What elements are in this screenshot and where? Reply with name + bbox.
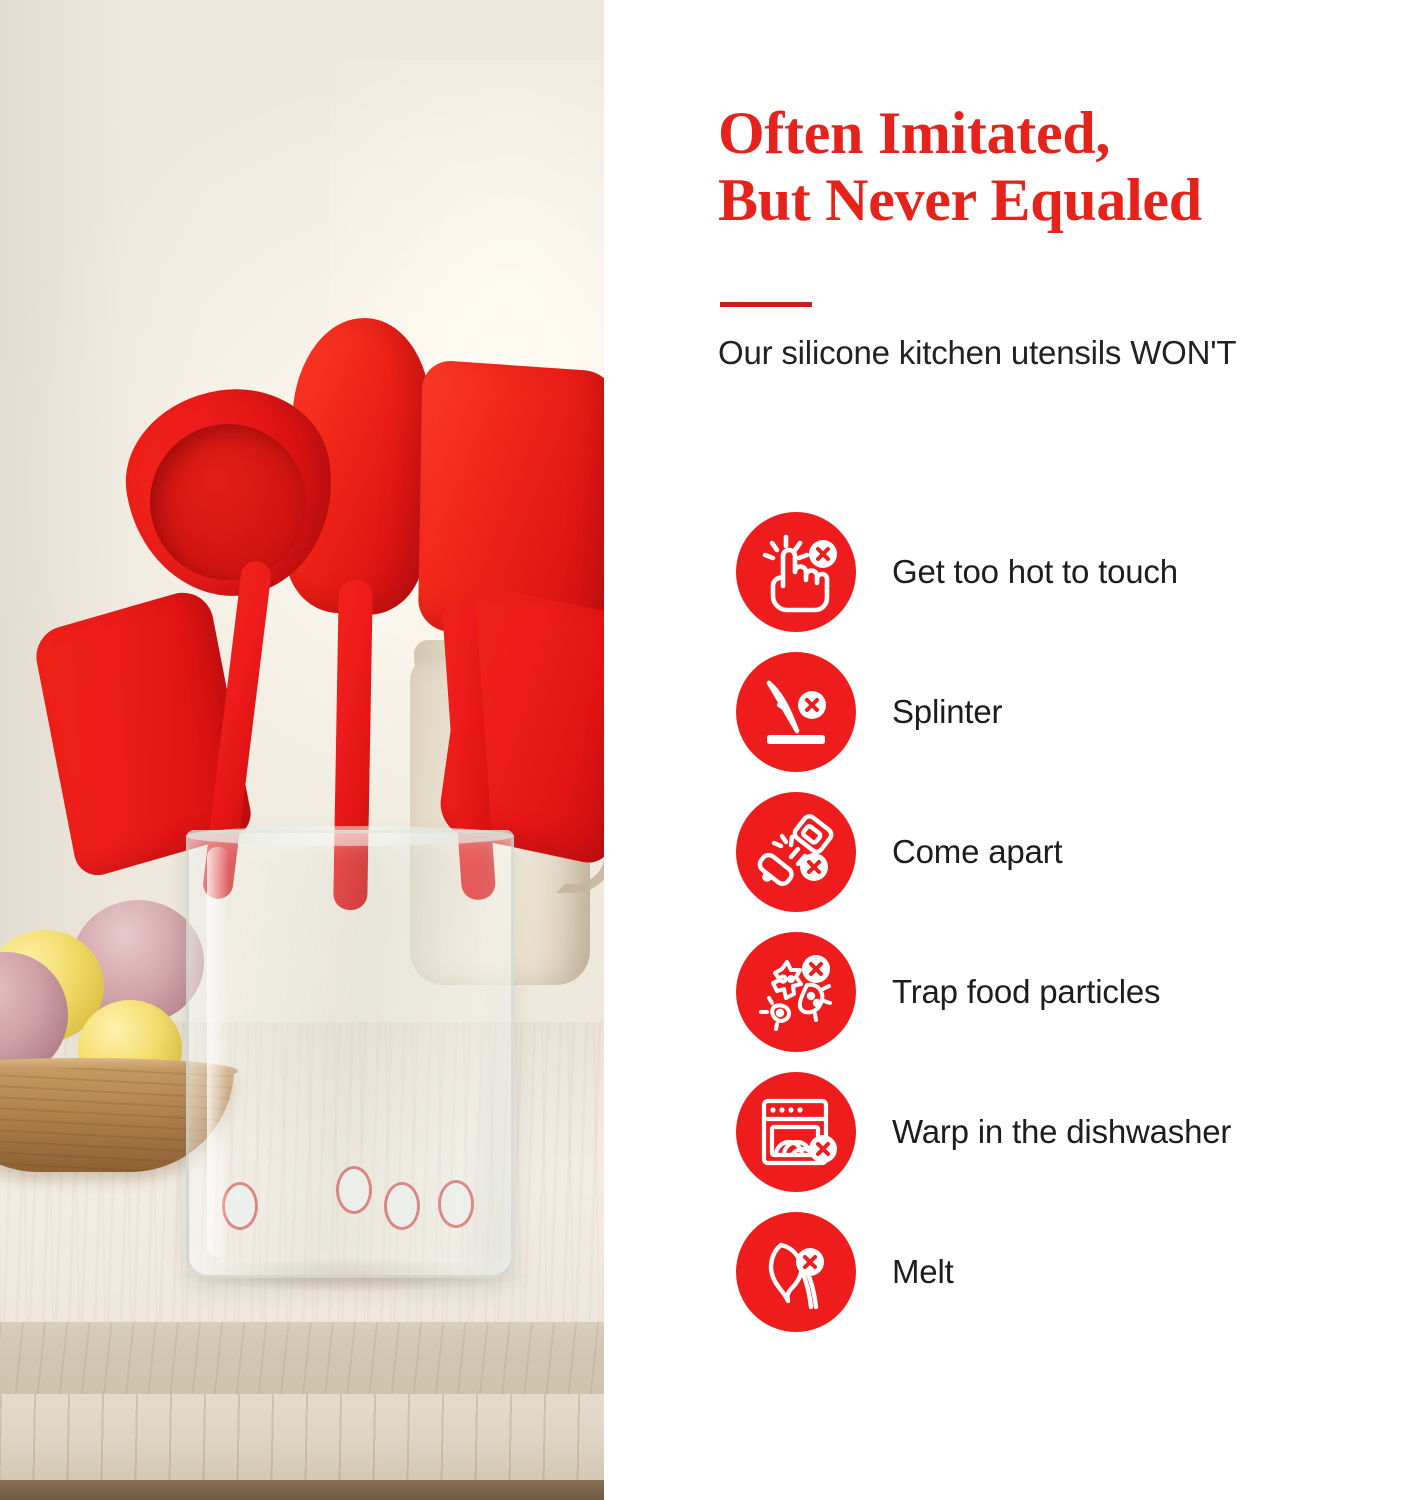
list-item-label: Melt [892, 1253, 954, 1291]
splinter-icon [736, 652, 856, 772]
germs-icon [736, 932, 856, 1052]
subheadline: Our silicone kitchen utensils WON'T [718, 334, 1415, 372]
feature-list: Get too hot to touch [736, 512, 1231, 1332]
utensil-hang-hole [225, 1185, 255, 1227]
utensil-hang-hole [339, 1169, 369, 1211]
product-feature-page: Often Imitated, But Never Equaled Our si… [0, 0, 1415, 1500]
list-item: Trap food particles [736, 932, 1231, 1052]
list-item-label: Come apart [892, 833, 1062, 871]
list-item: Warp in the dishwasher [736, 1072, 1231, 1192]
come-apart-icon [736, 792, 856, 912]
dishwasher-icon [736, 1072, 856, 1192]
list-item: Get too hot to touch [736, 512, 1231, 632]
headline-line-1: Often Imitated, [718, 100, 1110, 166]
page-title: Often Imitated, But Never Equaled [718, 100, 1415, 234]
list-item-label: Warp in the dishwasher [892, 1113, 1231, 1151]
list-item: Splinter [736, 652, 1231, 772]
list-item-label: Splinter [892, 693, 1002, 731]
utensil-hang-hole [441, 1183, 471, 1225]
jar-highlight [207, 847, 229, 1257]
hot-touch-icon [736, 512, 856, 632]
glass-utensil-jar [186, 830, 514, 1278]
glass-jar-rim [186, 826, 514, 846]
utensil-hang-hole [387, 1185, 417, 1227]
headline-divider-rule [720, 302, 812, 307]
countertop-under-shadow [0, 1480, 608, 1500]
melting-spatula-icon [736, 1212, 856, 1332]
product-photo [0, 0, 608, 1500]
list-item: Come apart [736, 792, 1231, 912]
countertop-edge [0, 1322, 608, 1394]
list-item: Melt [736, 1212, 1231, 1332]
list-item-label: Trap food particles [892, 973, 1160, 1011]
marketing-copy-panel: Often Imitated, But Never Equaled Our si… [608, 0, 1415, 1500]
countertop-front-face [0, 1394, 608, 1480]
list-item-label: Get too hot to touch [892, 553, 1178, 591]
headline-line-2: But Never Equaled [718, 167, 1415, 234]
